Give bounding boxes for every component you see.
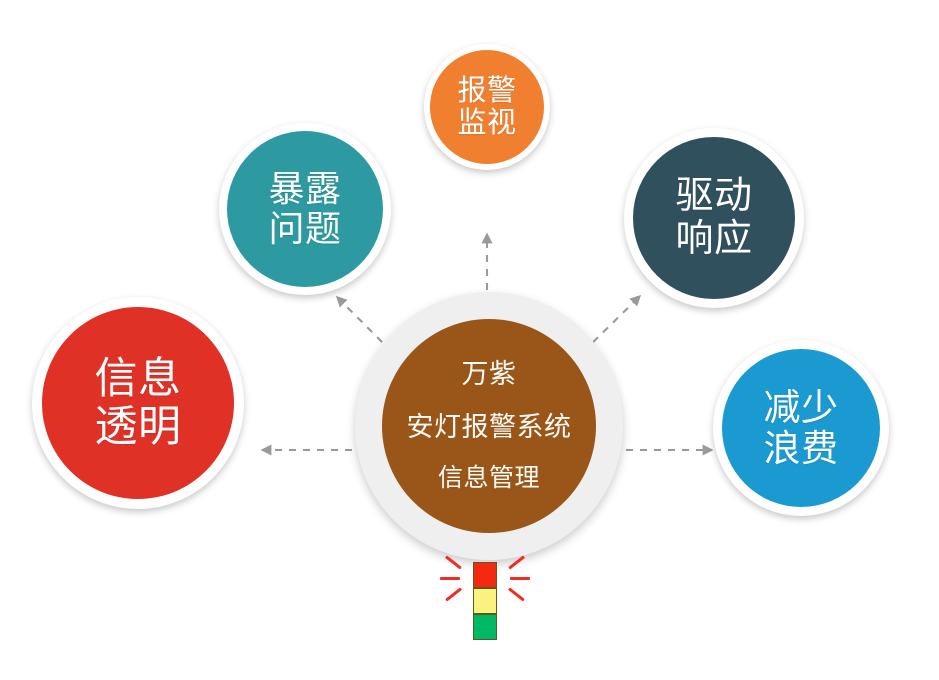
center-hub-disc: 万紫 安灯报警系统 信息管理 <box>382 319 596 533</box>
andon-red-lamp <box>473 562 497 588</box>
node-alarm-monitoring-line2: 监视 <box>457 107 516 139</box>
node-information-transparency-disc: 信息 透明 <box>42 307 234 499</box>
flash-right-upper <box>508 555 525 569</box>
flash-left-lower <box>445 587 462 601</box>
node-information-transparency[interactable]: 信息 透明 <box>32 297 244 509</box>
flash-right-lower <box>508 587 525 601</box>
node-drive-response[interactable]: 驱动 响应 <box>624 128 804 308</box>
andon-tower <box>473 562 497 640</box>
node-expose-problems-disc: 暴露 问题 <box>227 131 383 287</box>
andon-green-lamp <box>473 614 497 640</box>
flash-left-upper <box>445 555 462 569</box>
center-hub-line1: 万紫 <box>462 360 517 390</box>
center-hub[interactable]: 万紫 安灯报警系统 信息管理 <box>355 292 623 560</box>
node-reduce-waste-disc: 减少 浪费 <box>722 349 880 507</box>
node-alarm-monitoring-disc: 报警 监视 <box>430 50 544 164</box>
diagram-canvas: 报警 监视 暴露 问题 驱动 响应 信息 透明 减少 浪费 万紫 安 <box>0 0 939 680</box>
node-drive-response-disc: 驱动 响应 <box>633 137 795 299</box>
node-reduce-waste-line1: 减少 <box>764 387 839 428</box>
node-expose-problems-line2: 问题 <box>268 209 341 249</box>
node-reduce-waste-line2: 浪费 <box>764 428 839 469</box>
node-expose-problems-line1: 暴露 <box>268 169 341 209</box>
node-information-transparency-line1: 信息 <box>95 355 182 403</box>
andon-stack-light-icon <box>435 552 535 648</box>
andon-yellow-lamp <box>473 588 497 614</box>
node-alarm-monitoring[interactable]: 报警 监视 <box>424 44 550 170</box>
node-drive-response-line1: 驱动 <box>675 175 752 218</box>
node-alarm-monitoring-line1: 报警 <box>457 75 516 107</box>
center-hub-line2: 安灯报警系统 <box>407 413 572 443</box>
node-expose-problems[interactable]: 暴露 问题 <box>219 123 391 295</box>
node-drive-response-line2: 响应 <box>675 218 752 261</box>
center-hub-line3: 信息管理 <box>438 465 540 493</box>
flash-left-middle <box>440 577 460 580</box>
node-information-transparency-line2: 透明 <box>95 403 182 451</box>
flash-right-middle <box>510 577 530 580</box>
node-reduce-waste[interactable]: 减少 浪费 <box>713 340 889 516</box>
